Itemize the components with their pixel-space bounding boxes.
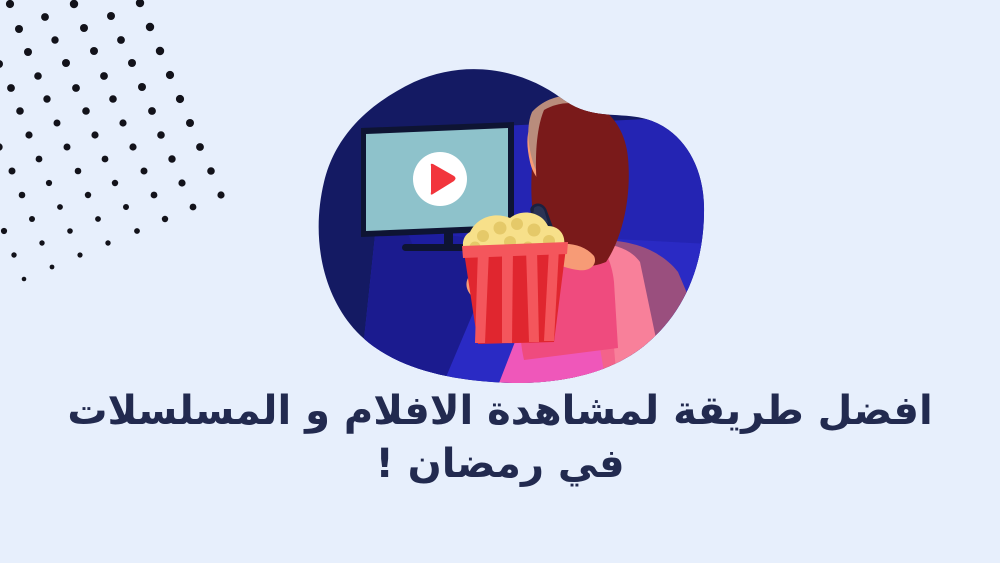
page-headline: افضل طريقة لمشاهدة الافلام و المسلسلات ف…	[0, 385, 1000, 491]
play-button	[413, 152, 467, 206]
headline-line-1: افضل طريقة لمشاهدة الافلام و المسلسلات	[0, 385, 1000, 438]
woman-watching-tv-illustration	[318, 66, 708, 386]
dot-pattern-decoration	[0, 0, 270, 300]
popcorn-bucket	[462, 212, 568, 344]
poster-canvas: افضل طريقة لمشاهدة الافلام و المسلسلات ف…	[0, 0, 1000, 563]
headline-line-2: في رمضان !	[0, 438, 1000, 491]
